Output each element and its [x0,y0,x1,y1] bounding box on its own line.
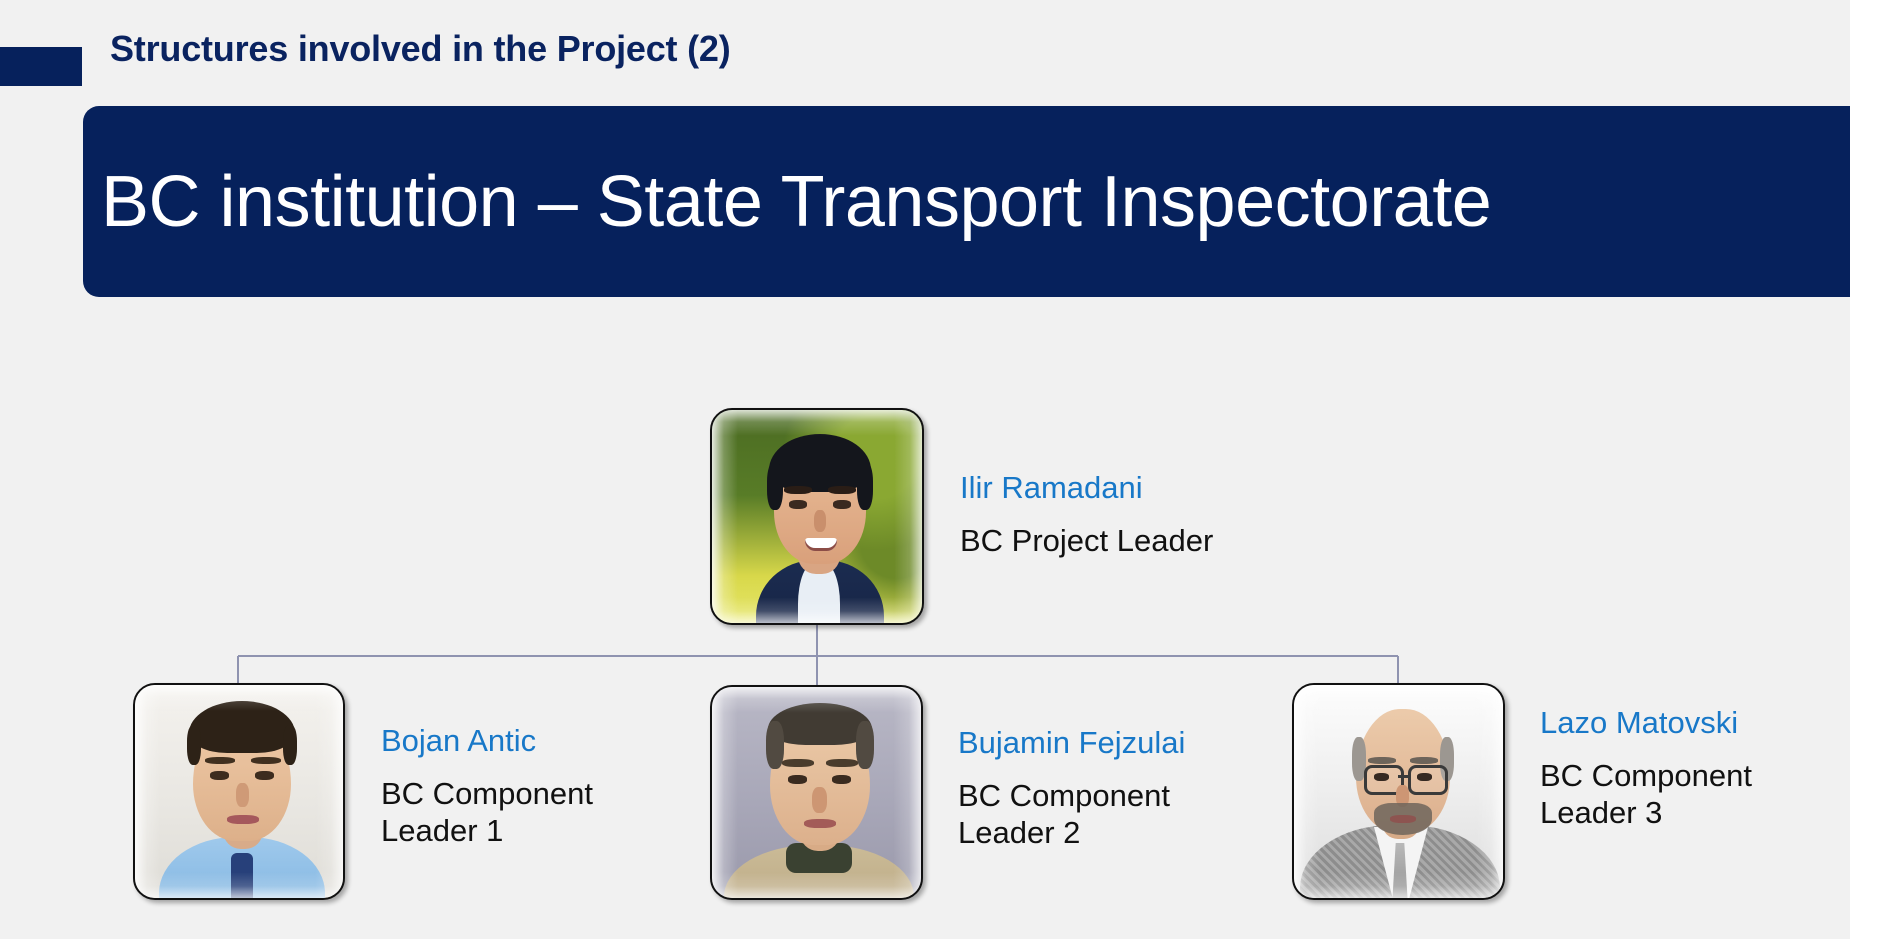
org-chart: Ilir Ramadani BC Project Leader [0,0,1850,939]
org-node-child-3[interactable]: Lazo Matovski BC Component Leader 3 [1292,683,1850,903]
org-node-root[interactable]: Ilir Ramadani BC Project Leader [710,408,1310,628]
avatar [1292,683,1505,900]
person-role: BC Component Leader 1 [381,775,641,851]
slide-edge-margin [1850,0,1896,939]
person-role: BC Project Leader [960,522,1220,560]
avatar [710,408,924,625]
person-role: BC Component Leader 2 [958,777,1218,853]
avatar [133,683,345,900]
person-name: Bojan Antic [381,723,681,760]
org-node-labels: Bojan Antic BC Component Leader 1 [381,723,681,850]
person-name: Bujamin Fejzulai [958,725,1258,762]
slide-canvas: Structures involved in the Project (2) B… [0,0,1850,939]
org-node-labels: Ilir Ramadani BC Project Leader [960,470,1290,559]
org-node-child-1[interactable]: Bojan Antic BC Component Leader 1 [133,683,693,903]
person-name: Ilir Ramadani [960,470,1290,507]
org-node-labels: Lazo Matovski BC Component Leader 3 [1540,705,1840,832]
person-name: Lazo Matovski [1540,705,1840,742]
org-node-child-2[interactable]: Bujamin Fejzulai BC Component Leader 2 [710,685,1270,905]
org-node-labels: Bujamin Fejzulai BC Component Leader 2 [958,725,1258,852]
person-role: BC Component Leader 3 [1540,757,1830,833]
avatar [710,685,923,900]
